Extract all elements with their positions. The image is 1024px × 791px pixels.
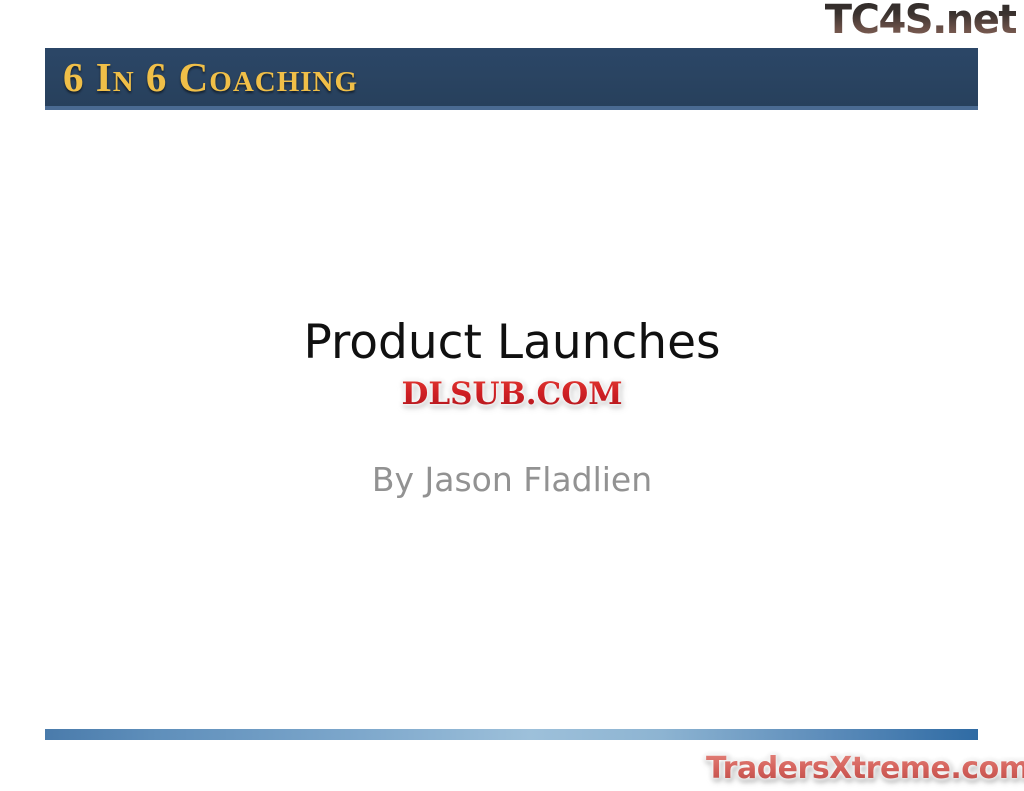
header-title: 6 In 6 Coaching [63, 53, 358, 101]
tc4s-watermark: TC4S.net [825, 0, 1016, 42]
tradersxtreme-watermark: TradersXtreme.com [706, 751, 1024, 787]
header-banner-inner: 6 In 6 Coaching [45, 48, 978, 106]
slide-content-area: Product Launches DLSUB.COM By Jason Flad… [0, 130, 1024, 690]
presentation-slide: TC4S.net 6 In 6 Coaching Product Launche… [0, 0, 1024, 791]
page-title: Product Launches [0, 315, 1024, 371]
page-subtitle: By Jason Fladlien [0, 460, 1024, 500]
dlsub-watermark: DLSUB.COM [0, 375, 1024, 415]
footer-divider-bar [45, 729, 978, 740]
dlsub-watermark-text: DLSUB.COM [393, 375, 630, 415]
header-banner: 6 In 6 Coaching [45, 48, 978, 110]
